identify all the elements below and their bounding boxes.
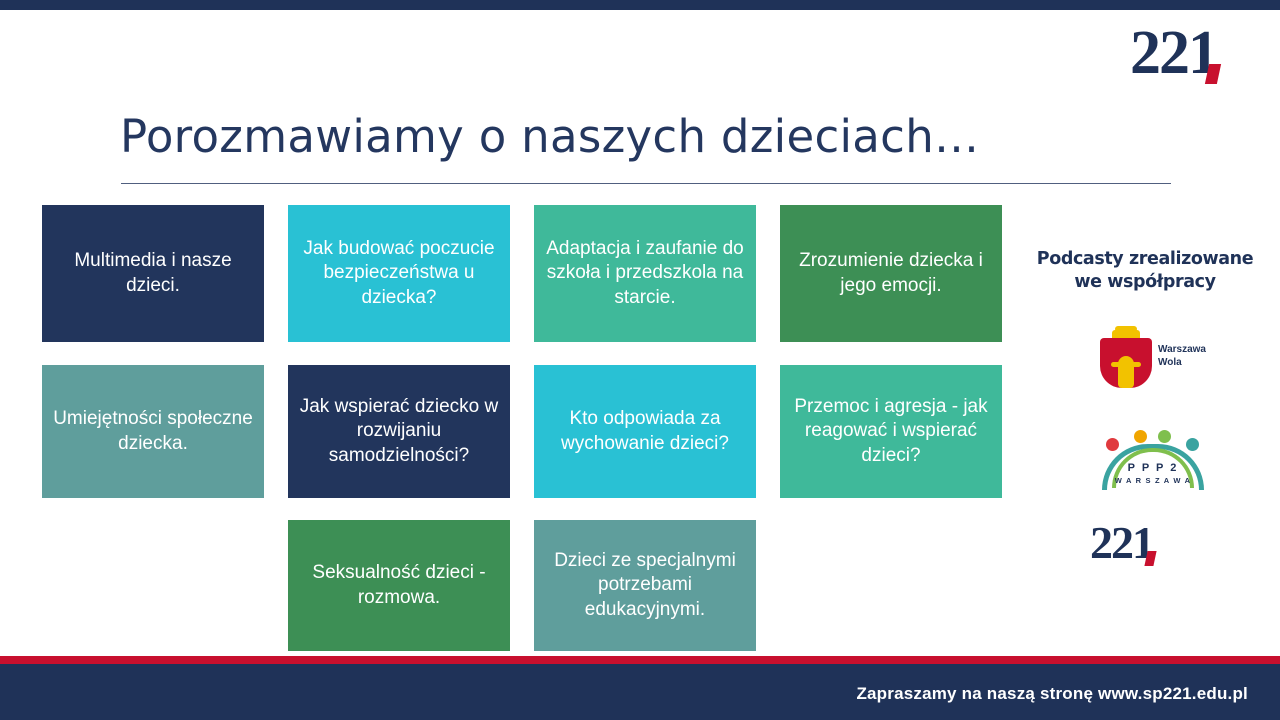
warszawa-wola-line2: Wola xyxy=(1158,357,1206,370)
topic-tile[interactable]: Zrozumienie dziecka i jego emocji. xyxy=(780,205,1002,342)
school-logo-header-text: 221 xyxy=(1130,22,1217,84)
topic-tile[interactable]: Jak budować poczucie bezpieczeństwa u dz… xyxy=(288,205,510,342)
ppp-dot-yellow-icon xyxy=(1134,430,1147,443)
ppp-name: P P P 2 xyxy=(1098,462,1208,474)
slide: 221 Porozmawiamy o naszych dzieciach… Mu… xyxy=(0,0,1280,720)
topic-tile[interactable]: Dzieci ze specjalnymi potrzebami edukacy… xyxy=(534,520,756,651)
ppp-dot-teal-icon xyxy=(1186,438,1199,451)
crest-figure-icon xyxy=(1118,356,1134,388)
topic-tile[interactable]: Adaptacja i zaufanie do szkoła i przedsz… xyxy=(534,205,756,342)
footer-text: Zapraszamy na naszą stronę www.sp221.edu… xyxy=(856,684,1248,704)
warszawa-wola-label: Warszawa Wola xyxy=(1158,344,1206,369)
ppp-dot-green-icon xyxy=(1158,430,1171,443)
footer-accent-bar xyxy=(0,656,1280,664)
partners-heading: Podcasty zrealizowane we współpracy xyxy=(1030,248,1260,294)
crest-shield-icon xyxy=(1100,338,1152,388)
top-bar xyxy=(0,0,1280,10)
title-divider xyxy=(121,183,1171,184)
warszawa-wola-line1: Warszawa xyxy=(1158,344,1206,357)
warszawa-wola-crest-icon xyxy=(1100,330,1152,388)
ppp-dot-red-icon xyxy=(1106,438,1119,451)
ppp-logo-icon: P P P 2 W A R S Z A W A xyxy=(1098,430,1208,486)
topic-tile[interactable]: Multimedia i nasze dzieci. xyxy=(42,205,264,342)
topic-tile[interactable]: Seksualność dzieci - rozmowa. xyxy=(288,520,510,651)
school-logo-header-accent xyxy=(1205,64,1221,84)
topic-tile[interactable]: Umiejętności społeczne dziecka. xyxy=(42,365,264,498)
page-title: Porozmawiamy o naszych dzieciach… xyxy=(120,110,1180,163)
school-logo-header: 221 xyxy=(1130,22,1217,84)
topic-tile[interactable]: Przemoc i agresja - jak reagować i wspie… xyxy=(780,365,1002,498)
topic-tile[interactable]: Jak wspierać dziecko w rozwijaniu samodz… xyxy=(288,365,510,498)
school-logo-partner-accent xyxy=(1144,551,1156,566)
topic-tile[interactable]: Kto odpowiada za wychowanie dzieci? xyxy=(534,365,756,498)
school-logo-partner-text: 221 xyxy=(1090,520,1153,566)
ppp-sub: W A R S Z A W A xyxy=(1098,476,1208,485)
school-logo-partner: 221 xyxy=(1090,520,1153,566)
